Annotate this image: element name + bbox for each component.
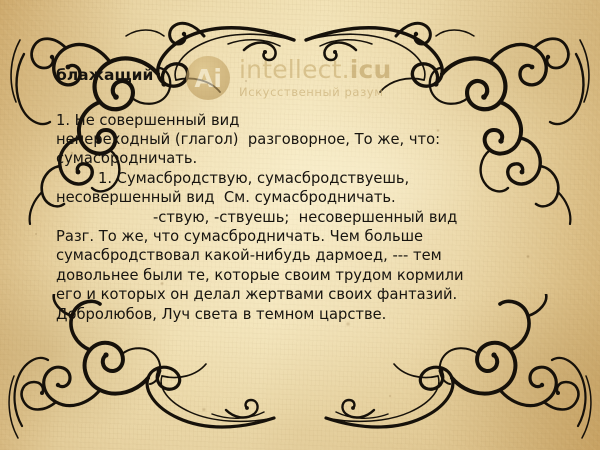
entry-line: Добролюбов, Луч света в темном царстве. — [56, 305, 526, 324]
entry-line: довольнее были те, которые своим трудом … — [56, 266, 526, 285]
entry-line: непереходный (глагол) разговорное, То же… — [56, 130, 526, 149]
entry-headword: блажащий — [56, 66, 526, 85]
dictionary-entry: блажащий 1. Не совершенный виднепереходн… — [56, 66, 526, 324]
entry-line: его и которых он делал жертвами своих фа… — [56, 285, 526, 304]
parchment-page: Ai intellect.icu Искусственный разум бла… — [0, 0, 600, 450]
entry-line: 1. Не совершенный вид — [56, 111, 526, 130]
entry-line: Разг. То же, что сумасбродничать. Чем бо… — [56, 227, 526, 246]
entry-line: сумасбродствовал какой-нибудь дармоед, -… — [56, 246, 526, 265]
entry-line: несовершенный вид См. сумасбродничать. — [56, 188, 526, 207]
entry-line: 1. Сумасбродствую, сумасбродствуешь, — [56, 169, 526, 188]
entry-line: -ствую, -ствуешь; несовершенный вид — [56, 208, 526, 227]
entry-definition-body: 1. Не совершенный виднепереходный (глаго… — [56, 111, 526, 324]
entry-line: сумасбродничать. — [56, 149, 526, 168]
